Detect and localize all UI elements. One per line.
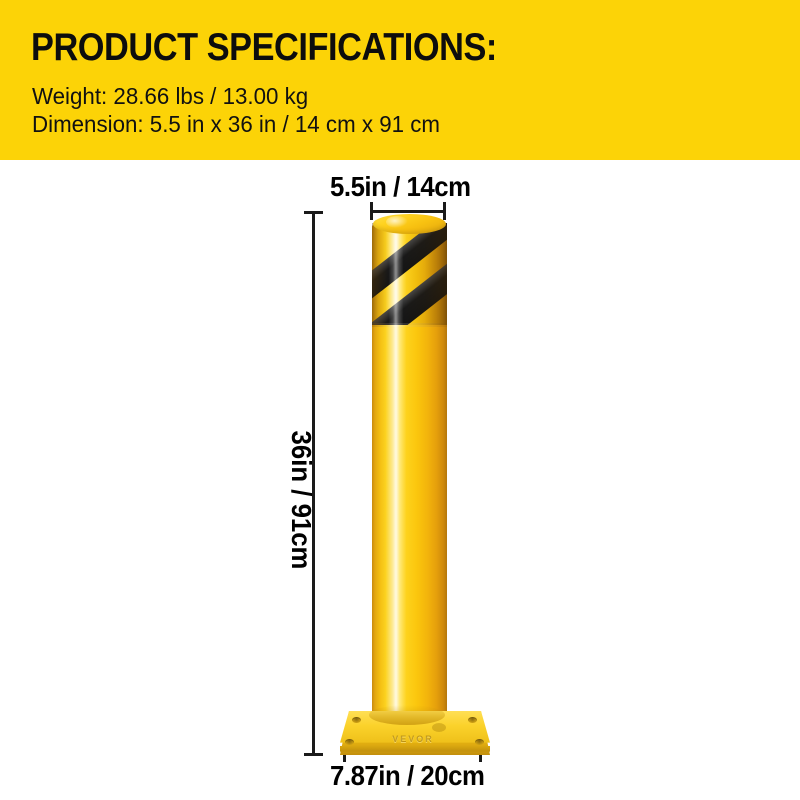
header-band: PRODUCT SPECIFICATIONS: Weight: 28.66 lb… bbox=[0, 0, 800, 160]
page-title: PRODUCT SPECIFICATIONS: bbox=[31, 26, 497, 70]
height-dimension-line bbox=[312, 211, 315, 756]
brand-emboss-text: VEVOR bbox=[378, 733, 448, 745]
product-spec-image: PRODUCT SPECIFICATIONS: Weight: 28.66 lb… bbox=[0, 0, 800, 800]
bolt-hole bbox=[468, 717, 477, 723]
bolt-hole bbox=[345, 739, 354, 745]
cap-highlight bbox=[386, 216, 408, 228]
bolt-hole bbox=[352, 717, 361, 723]
tube-seam bbox=[372, 323, 447, 327]
weld-fillet bbox=[369, 705, 445, 725]
height-tick-top bbox=[304, 211, 323, 214]
spec-weight: Weight: 28.66 lbs / 13.00 kg bbox=[32, 83, 308, 109]
height-tick-bottom bbox=[304, 753, 323, 756]
spec-dimension: Dimension: 5.5 in x 36 in / 14 cm x 91 c… bbox=[32, 111, 440, 137]
bollard-illustration: VEVOR bbox=[360, 205, 470, 765]
base-plate-group: VEVOR bbox=[340, 703, 490, 765]
bollard-cap-top bbox=[373, 214, 446, 234]
brand-badge bbox=[432, 723, 446, 732]
diameter-label: 5.5in / 14cm bbox=[330, 171, 471, 203]
bolt-hole bbox=[475, 739, 484, 745]
